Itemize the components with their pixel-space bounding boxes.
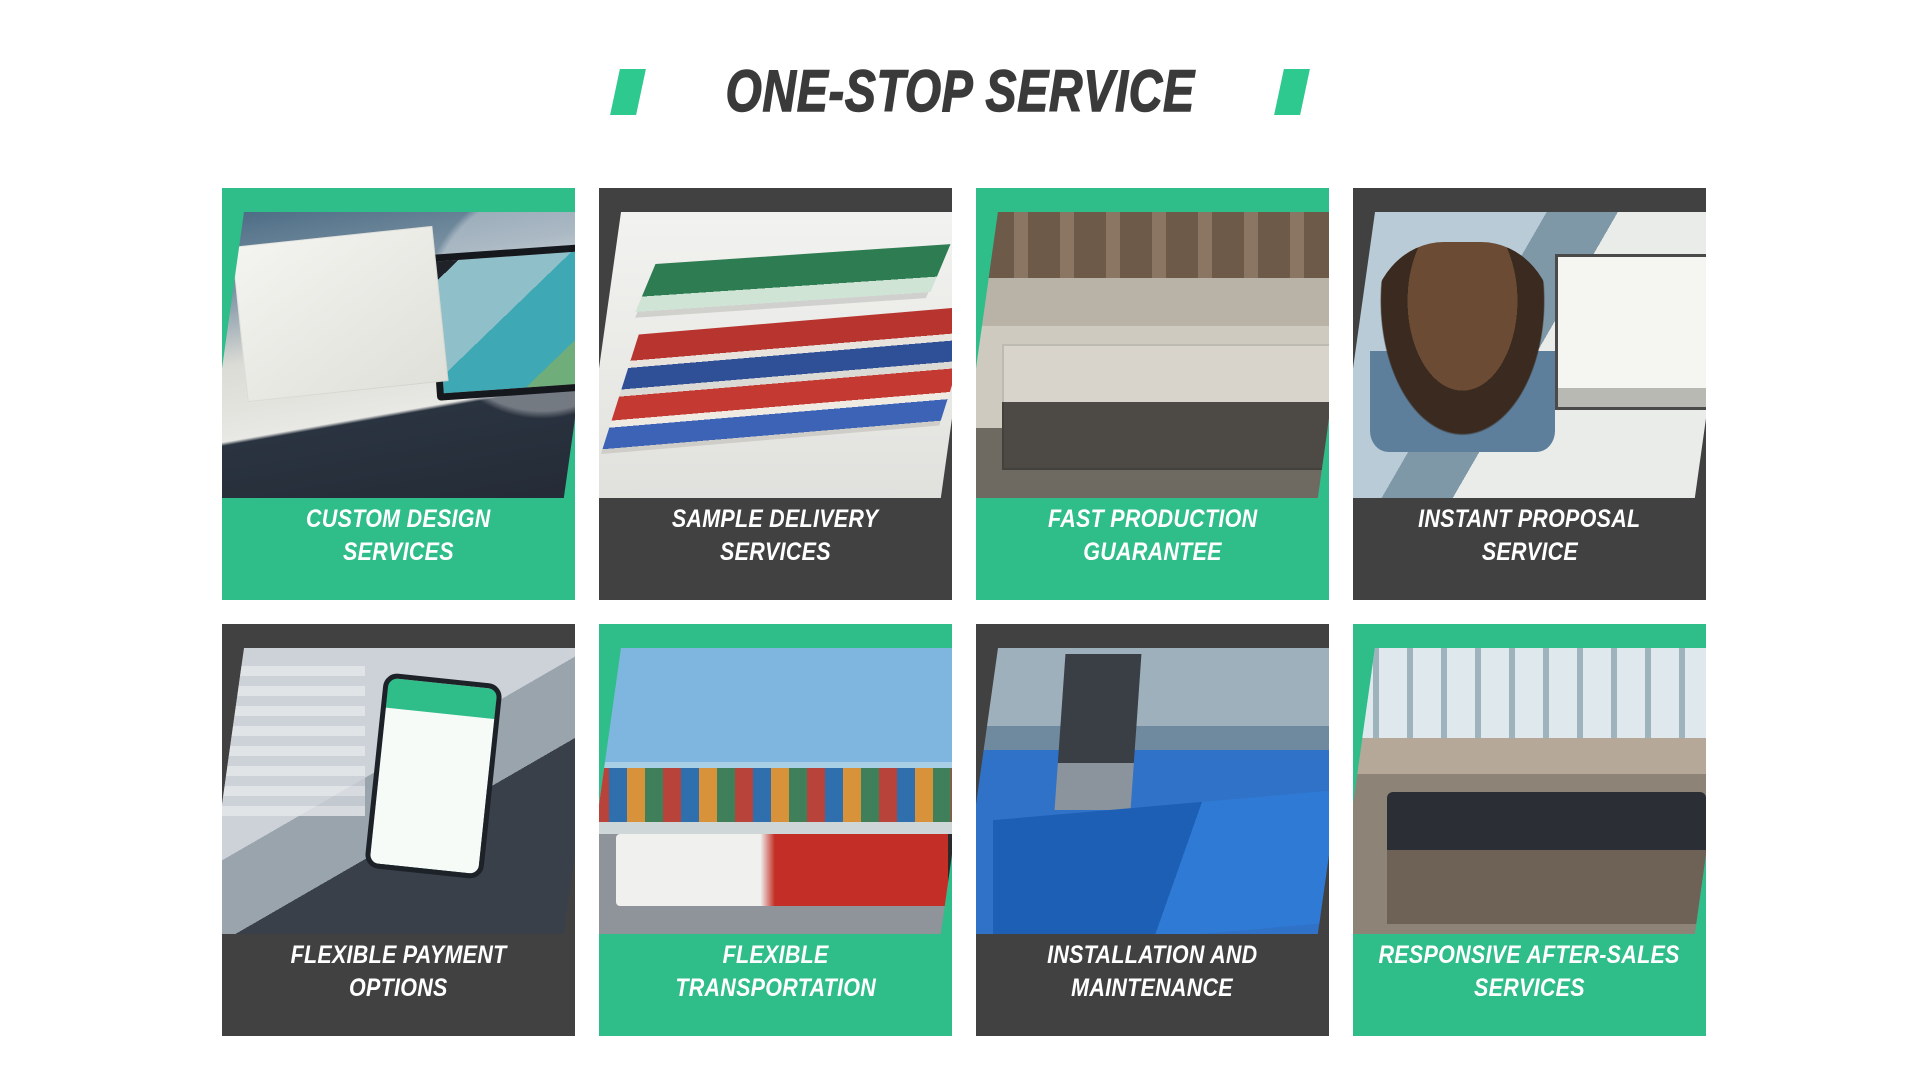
card-label: INSTALLATION ANDMAINTENANCE <box>976 918 1329 1036</box>
card-photo-image <box>976 212 1329 498</box>
card-photo-frame <box>1353 624 1706 934</box>
card-label: FAST PRODUCTIONGUARANTEE <box>976 482 1329 600</box>
card-photo-image <box>976 648 1329 934</box>
card-label-line: SERVICES <box>1474 974 1585 1004</box>
card-photo-frame <box>222 188 575 498</box>
title-accent-right-icon <box>1274 69 1310 115</box>
card-label: SAMPLE DELIVERYSERVICES <box>599 482 952 600</box>
service-card-fast-production-guarantee[interactable]: FAST PRODUCTIONGUARANTEE <box>976 188 1329 600</box>
card-photo-frame <box>976 188 1329 498</box>
service-card-installation-and-maintenance[interactable]: INSTALLATION ANDMAINTENANCE <box>976 624 1329 1036</box>
card-label-line: FLEXIBLE PAYMENT <box>291 941 507 971</box>
service-card-responsive-after-sales-services[interactable]: RESPONSIVE AFTER-SALESSERVICES <box>1353 624 1706 1036</box>
card-label: FLEXIBLETRANSPORTATION <box>599 918 952 1036</box>
card-photo-frame <box>599 624 952 934</box>
card-label-line: CUSTOM DESIGN <box>306 505 491 535</box>
card-photo <box>222 648 575 934</box>
card-label-line: INSTANT PROPOSAL <box>1418 505 1640 535</box>
one-stop-service-page: ONE-STOP SERVICE CUSTOM DESIGNSERVICESSA… <box>0 0 1920 1083</box>
card-label-line: FLEXIBLE <box>723 941 829 971</box>
card-photo <box>976 648 1329 934</box>
card-photo <box>599 212 952 498</box>
card-label-line: SAMPLE DELIVERY <box>672 505 879 535</box>
card-label-line: SERVICE <box>1481 538 1577 568</box>
card-label-line: INSTALLATION AND <box>1047 941 1257 971</box>
card-photo-image <box>599 212 952 498</box>
service-card-sample-delivery-services[interactable]: SAMPLE DELIVERYSERVICES <box>599 188 952 600</box>
card-photo <box>222 212 575 498</box>
card-photo-image <box>222 212 575 498</box>
card-label-line: SERVICES <box>720 538 831 568</box>
title-accent-left-icon <box>610 69 646 115</box>
card-label: INSTANT PROPOSALSERVICE <box>1353 482 1706 600</box>
card-label: CUSTOM DESIGNSERVICES <box>222 482 575 600</box>
card-label: FLEXIBLE PAYMENTOPTIONS <box>222 918 575 1036</box>
card-label-line: SERVICES <box>343 538 454 568</box>
card-label-line: TRANSPORTATION <box>675 974 876 1004</box>
card-photo <box>599 648 952 934</box>
card-photo <box>1353 648 1706 934</box>
card-photo-frame <box>1353 188 1706 498</box>
service-card-flexible-payment-options[interactable]: FLEXIBLE PAYMENTOPTIONS <box>222 624 575 1036</box>
card-photo-image <box>1353 648 1706 934</box>
service-card-instant-proposal-service[interactable]: INSTANT PROPOSALSERVICE <box>1353 188 1706 600</box>
card-photo <box>1353 212 1706 498</box>
card-label: RESPONSIVE AFTER-SALESSERVICES <box>1353 918 1706 1036</box>
card-photo <box>976 212 1329 498</box>
card-label-line: MAINTENANCE <box>1072 974 1234 1004</box>
card-photo-image <box>222 648 575 934</box>
service-card-flexible-transportation[interactable]: FLEXIBLETRANSPORTATION <box>599 624 952 1036</box>
card-label-line: RESPONSIVE AFTER-SALES <box>1379 941 1680 971</box>
service-card-grid: CUSTOM DESIGNSERVICESSAMPLE DELIVERYSERV… <box>222 188 1708 1036</box>
page-title: ONE-STOP SERVICE <box>0 58 1920 125</box>
page-title-text: ONE-STOP SERVICE <box>725 58 1194 125</box>
card-photo-frame <box>599 188 952 498</box>
card-photo-image <box>599 648 952 934</box>
card-photo-frame <box>976 624 1329 934</box>
card-photo-frame <box>222 624 575 934</box>
service-card-custom-design-services[interactable]: CUSTOM DESIGNSERVICES <box>222 188 575 600</box>
card-label-line: GUARANTEE <box>1083 538 1222 568</box>
card-label-line: OPTIONS <box>349 974 448 1004</box>
card-label-line: FAST PRODUCTION <box>1048 505 1257 535</box>
card-photo-image <box>1353 212 1706 498</box>
